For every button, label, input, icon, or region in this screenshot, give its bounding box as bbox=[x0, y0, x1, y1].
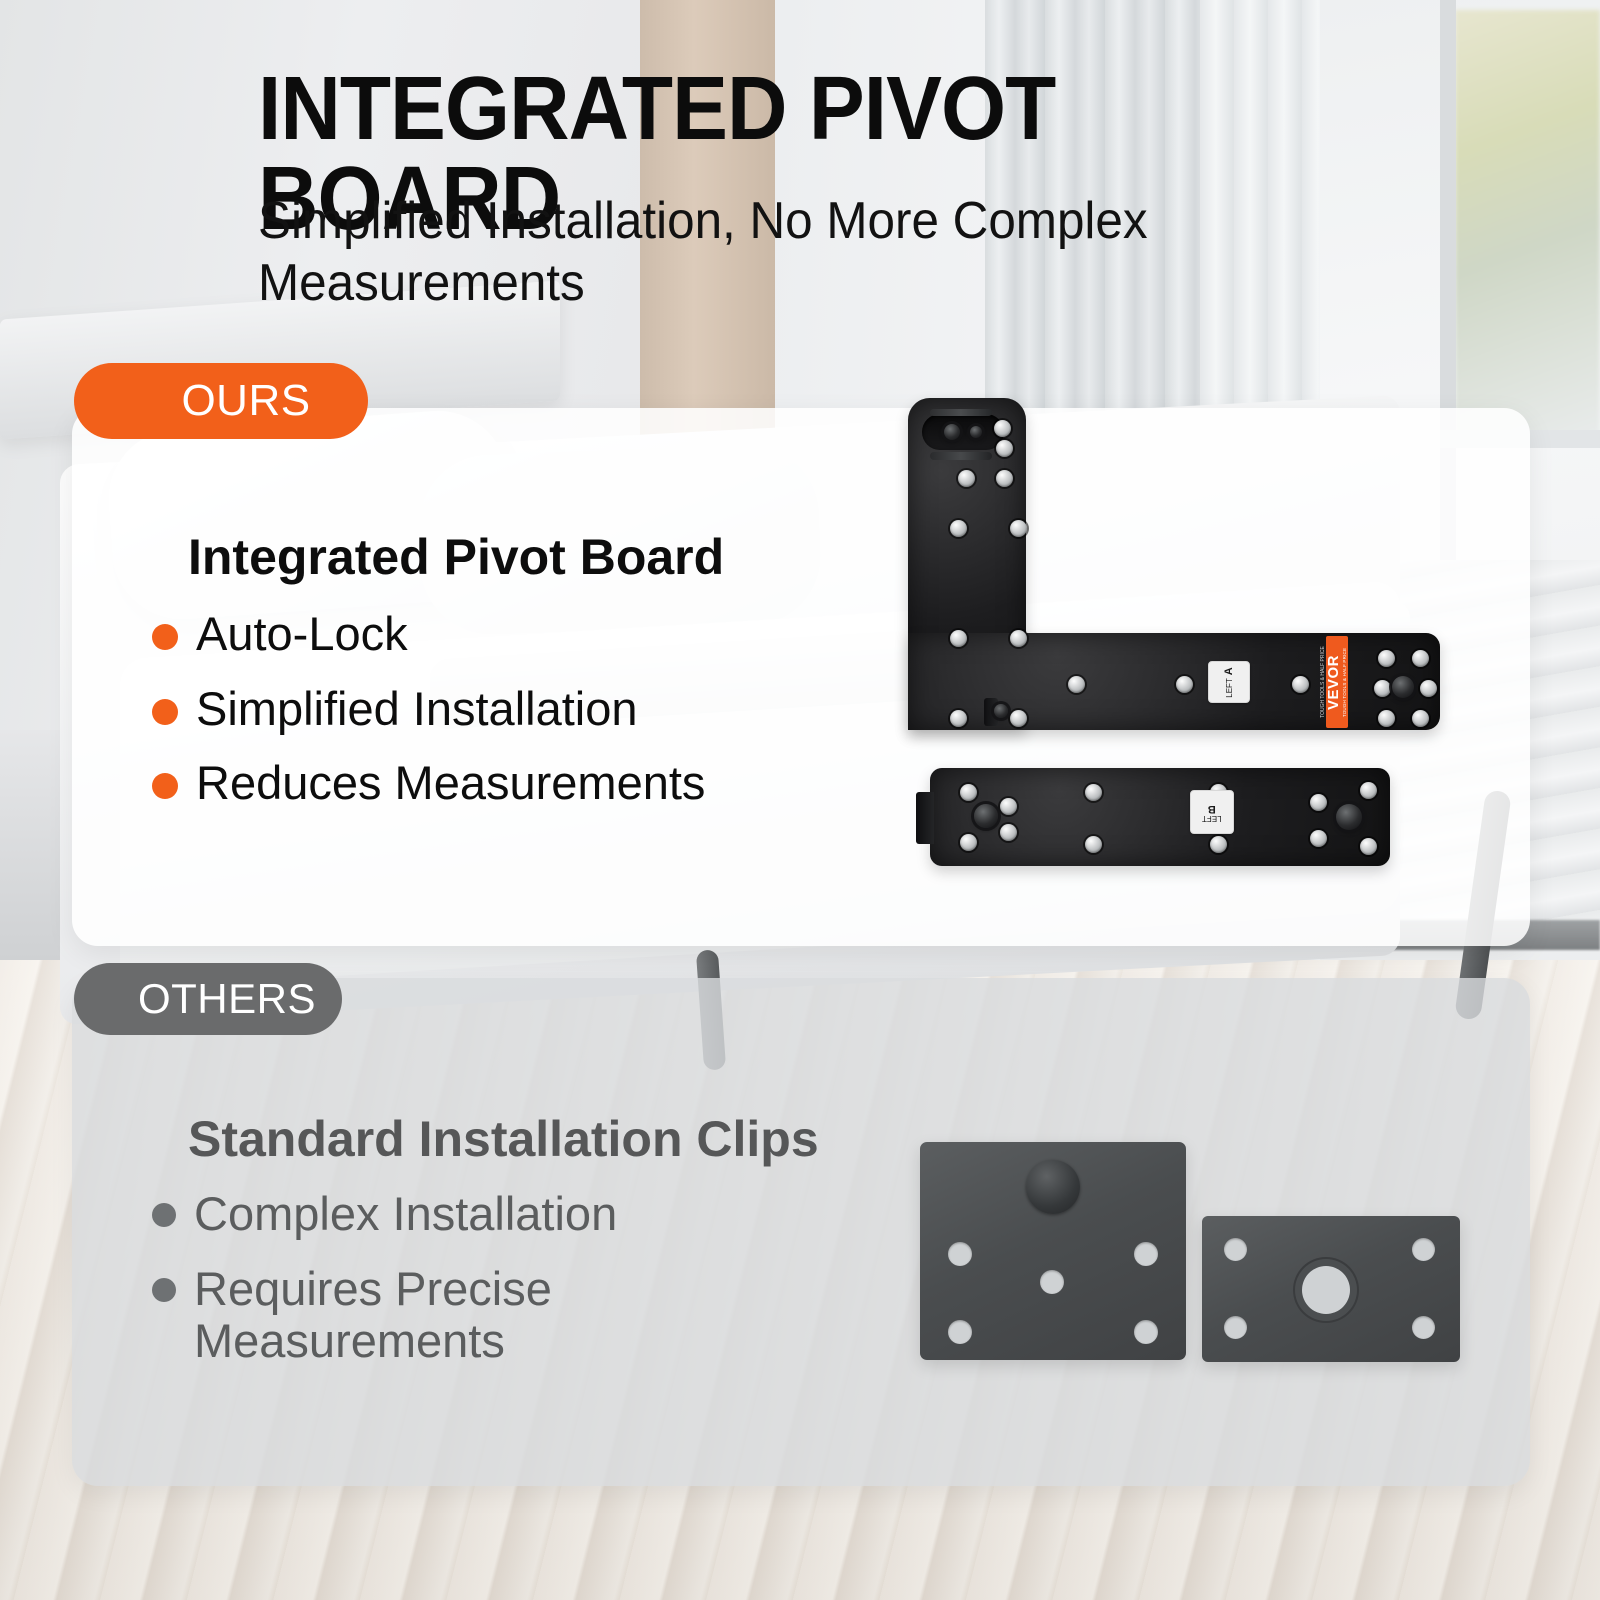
board-b-hole bbox=[1310, 830, 1327, 847]
bullet-dot-icon bbox=[152, 624, 178, 650]
board-a-hole bbox=[1010, 710, 1027, 727]
board-a-hole bbox=[996, 440, 1013, 457]
clip-small-center-ring bbox=[1302, 1266, 1350, 1314]
vevor-brand-name: VEVOR bbox=[1327, 654, 1342, 709]
clip-large-hole bbox=[948, 1242, 972, 1266]
board-a-hole bbox=[1010, 520, 1027, 537]
board-a-hole bbox=[958, 470, 975, 487]
board-b-hole bbox=[1000, 824, 1017, 841]
page-subtitle: Simplified Installation, No More Complex… bbox=[258, 190, 1275, 315]
board-a-hole bbox=[1010, 630, 1027, 647]
board-b-part-label: LEFT B bbox=[1190, 790, 1234, 834]
clip-large-hole bbox=[1134, 1320, 1158, 1344]
board-b-pivot-pin-right bbox=[1336, 804, 1362, 830]
list-item: Simplified Installation bbox=[152, 683, 912, 736]
ours-bullet-label: Reduces Measurements bbox=[196, 757, 705, 810]
clip-large-hole bbox=[1134, 1242, 1158, 1266]
others-heading: Standard Installation Clips bbox=[188, 1110, 819, 1168]
board-b-pivot-pin-left bbox=[974, 804, 998, 828]
board-b-hole bbox=[960, 834, 977, 851]
clip-large-hole-center bbox=[1040, 1270, 1064, 1294]
product-image-pivot-board-a: LEFT A TOUGH TOOLS & HALF PRICE VEVOR TO… bbox=[908, 398, 1440, 730]
board-b-hole bbox=[1310, 794, 1327, 811]
board-a-hole bbox=[1176, 676, 1193, 693]
others-badge: OTHERS bbox=[74, 963, 342, 1035]
board-b-hole bbox=[1360, 782, 1377, 799]
others-feature-list: Complex Installation Requires Precise Me… bbox=[152, 1188, 912, 1390]
others-bullet-label: Complex Installation bbox=[194, 1188, 617, 1241]
board-b-hole bbox=[1210, 836, 1227, 853]
bullet-dot-icon bbox=[152, 1278, 176, 1302]
clip-small-hole bbox=[1412, 1316, 1435, 1339]
board-a-lock-pin bbox=[994, 704, 1008, 718]
board-a-hole bbox=[1378, 710, 1395, 727]
board-a-hinge-pin bbox=[944, 424, 960, 440]
board-b-plate bbox=[930, 768, 1390, 866]
board-b-hole bbox=[1085, 836, 1102, 853]
vevor-brand-sticker: VEVOR TOUGH TOOLS & HALF PRICE bbox=[1326, 636, 1348, 728]
product-image-standard-clip-large bbox=[920, 1142, 1186, 1360]
ours-heading: Integrated Pivot Board bbox=[188, 528, 724, 586]
board-a-hole bbox=[1412, 710, 1429, 727]
board-b-lock-tab bbox=[916, 792, 934, 844]
board-b-label-letter: B bbox=[1208, 803, 1216, 814]
clip-large-hole bbox=[948, 1320, 972, 1344]
board-a-hole bbox=[1378, 650, 1395, 667]
window-glass bbox=[1455, 10, 1600, 440]
board-a-hole bbox=[1374, 680, 1391, 697]
board-a-hinge-bar-bottom bbox=[930, 452, 992, 460]
board-a-hole bbox=[1292, 676, 1309, 693]
board-b-hole bbox=[1000, 798, 1017, 815]
list-item: Reduces Measurements bbox=[152, 757, 912, 810]
product-image-standard-clip-small bbox=[1202, 1216, 1460, 1362]
others-bullet-label: Requires Precise Measurements bbox=[194, 1263, 664, 1368]
product-image-pivot-board-b: LEFT B bbox=[930, 768, 1390, 866]
board-a-hole bbox=[1412, 650, 1429, 667]
board-a-hole bbox=[1420, 680, 1437, 697]
board-a-hole bbox=[950, 520, 967, 537]
board-a-hinge-pin-2 bbox=[970, 426, 982, 438]
board-a-hole bbox=[1068, 676, 1085, 693]
board-a-hinge-bar-top bbox=[930, 409, 992, 416]
bullet-dot-icon bbox=[152, 1203, 176, 1227]
clip-small-hole bbox=[1224, 1316, 1247, 1339]
board-a-recess-slot bbox=[922, 414, 1004, 450]
ours-bullet-label: Auto-Lock bbox=[196, 608, 408, 661]
bullet-dot-icon bbox=[152, 699, 178, 725]
board-b-hole bbox=[1085, 784, 1102, 801]
board-a-hole bbox=[950, 710, 967, 727]
ours-badge: OURS bbox=[74, 363, 368, 439]
clip-small-hole bbox=[1412, 1238, 1435, 1261]
board-b-hole bbox=[960, 784, 977, 801]
board-a-label-letter: A bbox=[1223, 667, 1234, 675]
list-item: Complex Installation bbox=[152, 1188, 912, 1241]
board-a-hole bbox=[996, 470, 1013, 487]
list-item: Auto-Lock bbox=[152, 608, 912, 661]
ours-bullet-label: Simplified Installation bbox=[196, 683, 638, 736]
ours-feature-list: Auto-Lock Simplified Installation Reduce… bbox=[152, 608, 912, 832]
board-a-part-label: LEFT A bbox=[1208, 661, 1250, 703]
board-a-hole bbox=[994, 420, 1011, 437]
vevor-brand-tagline: TOUGH TOOLS & HALF PRICE bbox=[1343, 647, 1348, 716]
clip-large-stud bbox=[1026, 1160, 1080, 1214]
bullet-dot-icon bbox=[152, 773, 178, 799]
list-item: Requires Precise Measurements bbox=[152, 1263, 912, 1368]
board-b-hole bbox=[1360, 838, 1377, 855]
clip-small-hole bbox=[1224, 1238, 1247, 1261]
board-a-label-side: LEFT bbox=[1225, 678, 1233, 698]
board-a-hole bbox=[950, 630, 967, 647]
board-a-pivot-pin bbox=[1392, 676, 1414, 698]
